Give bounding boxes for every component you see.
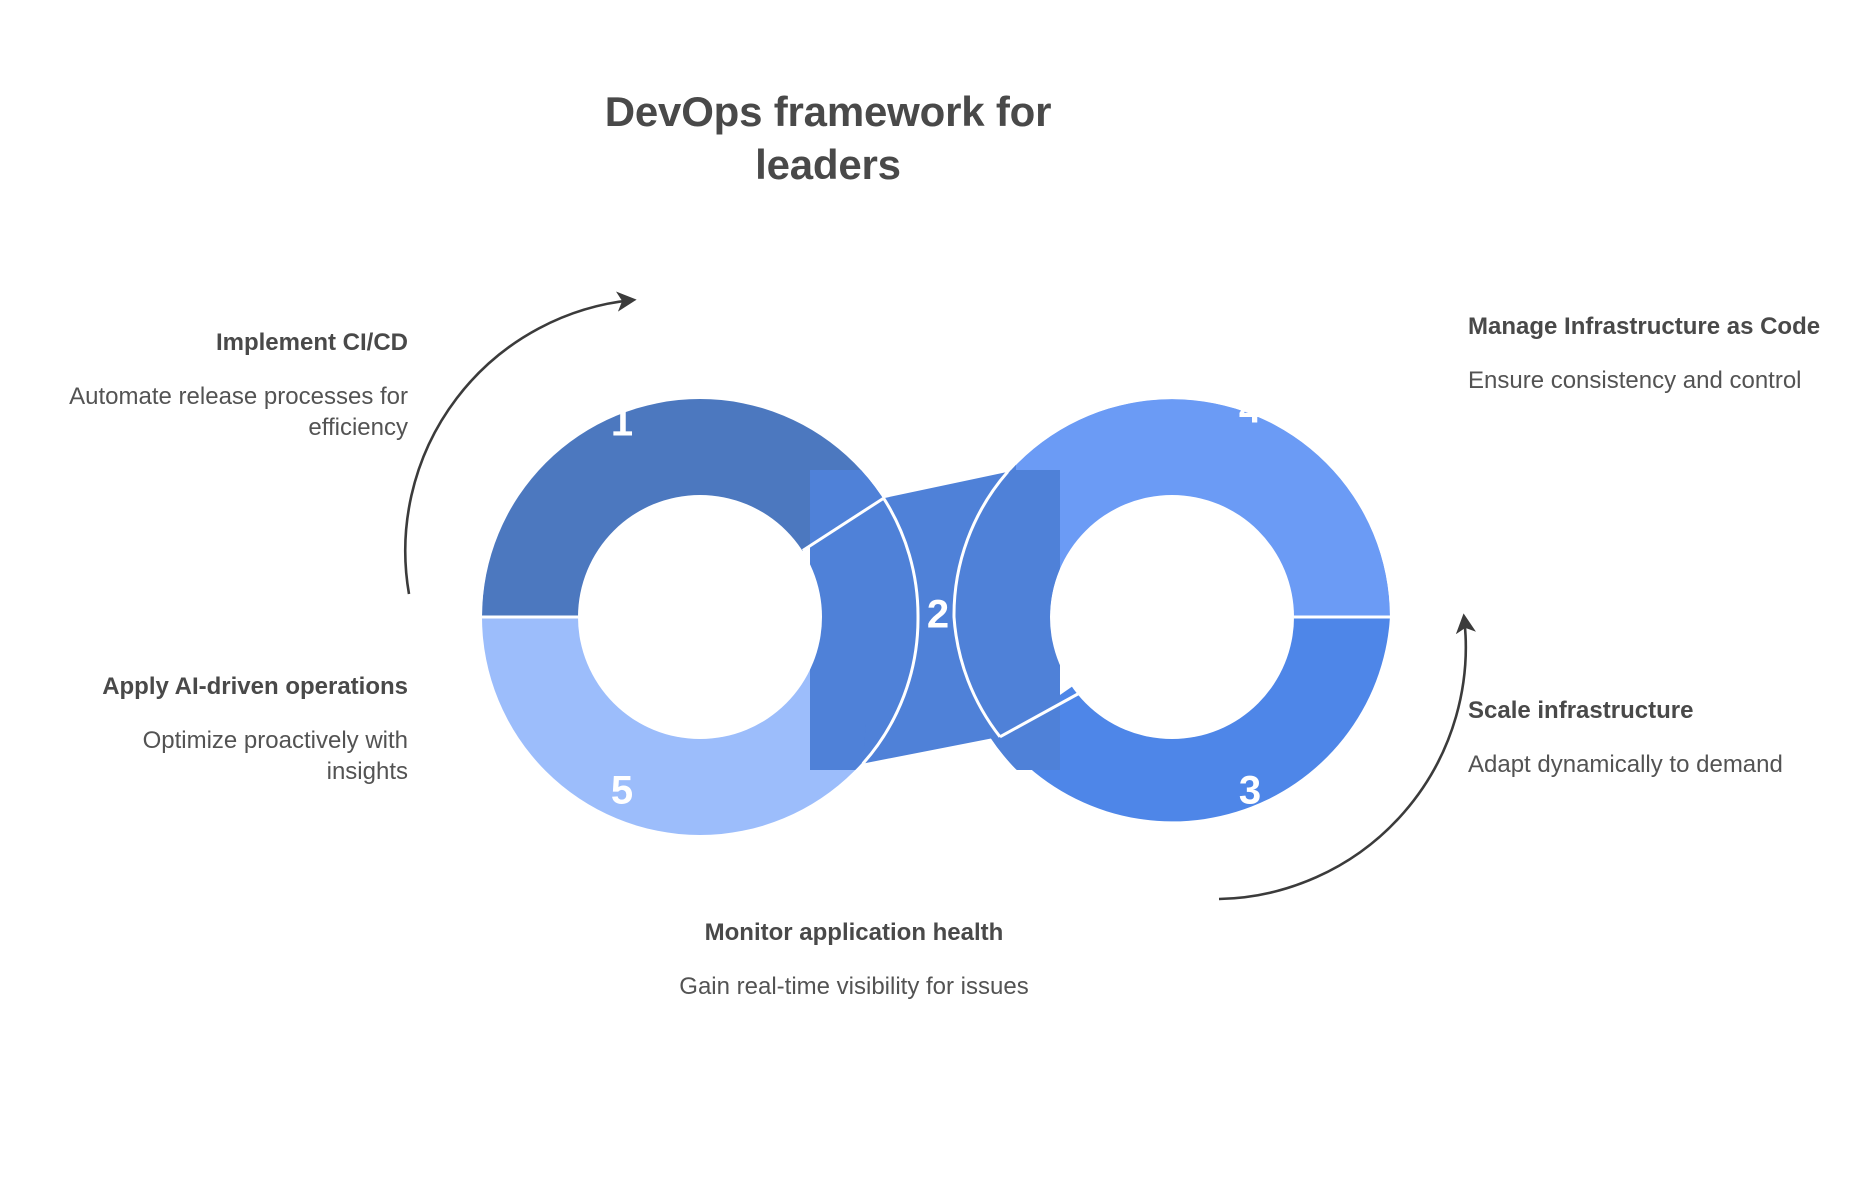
callout-step-1[interactable]: Implement CI/CD Automate release process… xyxy=(48,328,408,444)
callout-step-3-description: Adapt dynamically to demand xyxy=(1468,749,1838,780)
page-title-line-2: leaders xyxy=(538,139,1118,192)
callout-step-5-description: Optimize proactively with insights xyxy=(72,725,408,788)
callout-step-5[interactable]: Apply AI-driven operations Optimize proa… xyxy=(72,672,408,788)
callout-step-5-heading: Apply AI-driven operations xyxy=(72,672,408,703)
callout-step-3[interactable]: Scale infrastructure Adapt dynamically t… xyxy=(1468,696,1838,780)
segment-2-number: 2 xyxy=(927,593,949,637)
callout-step-4[interactable]: Manage Infrastructure as Code Ensure con… xyxy=(1468,312,1838,396)
callout-step-2-description: Gain real-time visibility for issues xyxy=(648,971,1060,1002)
segment-4-number: 4 xyxy=(1239,388,1262,432)
callout-step-3-heading: Scale infrastructure xyxy=(1468,696,1838,727)
callout-step-2[interactable]: Monitor application health Gain real-tim… xyxy=(648,918,1060,1002)
page-title: DevOps framework for leaders xyxy=(538,86,1118,192)
segment-1-number: 1 xyxy=(611,401,633,445)
callout-step-1-heading: Implement CI/CD xyxy=(48,328,408,359)
callout-step-4-description: Ensure consistency and control xyxy=(1468,365,1838,396)
callout-step-2-heading: Monitor application health xyxy=(648,918,1060,949)
segment-5-number: 5 xyxy=(611,769,633,813)
callout-step-1-description: Automate release processes for efficienc… xyxy=(48,381,408,444)
callout-step-4-heading: Manage Infrastructure as Code xyxy=(1468,312,1838,343)
segment-3-number: 3 xyxy=(1239,769,1261,813)
page-title-line-1: DevOps framework for xyxy=(538,86,1118,139)
